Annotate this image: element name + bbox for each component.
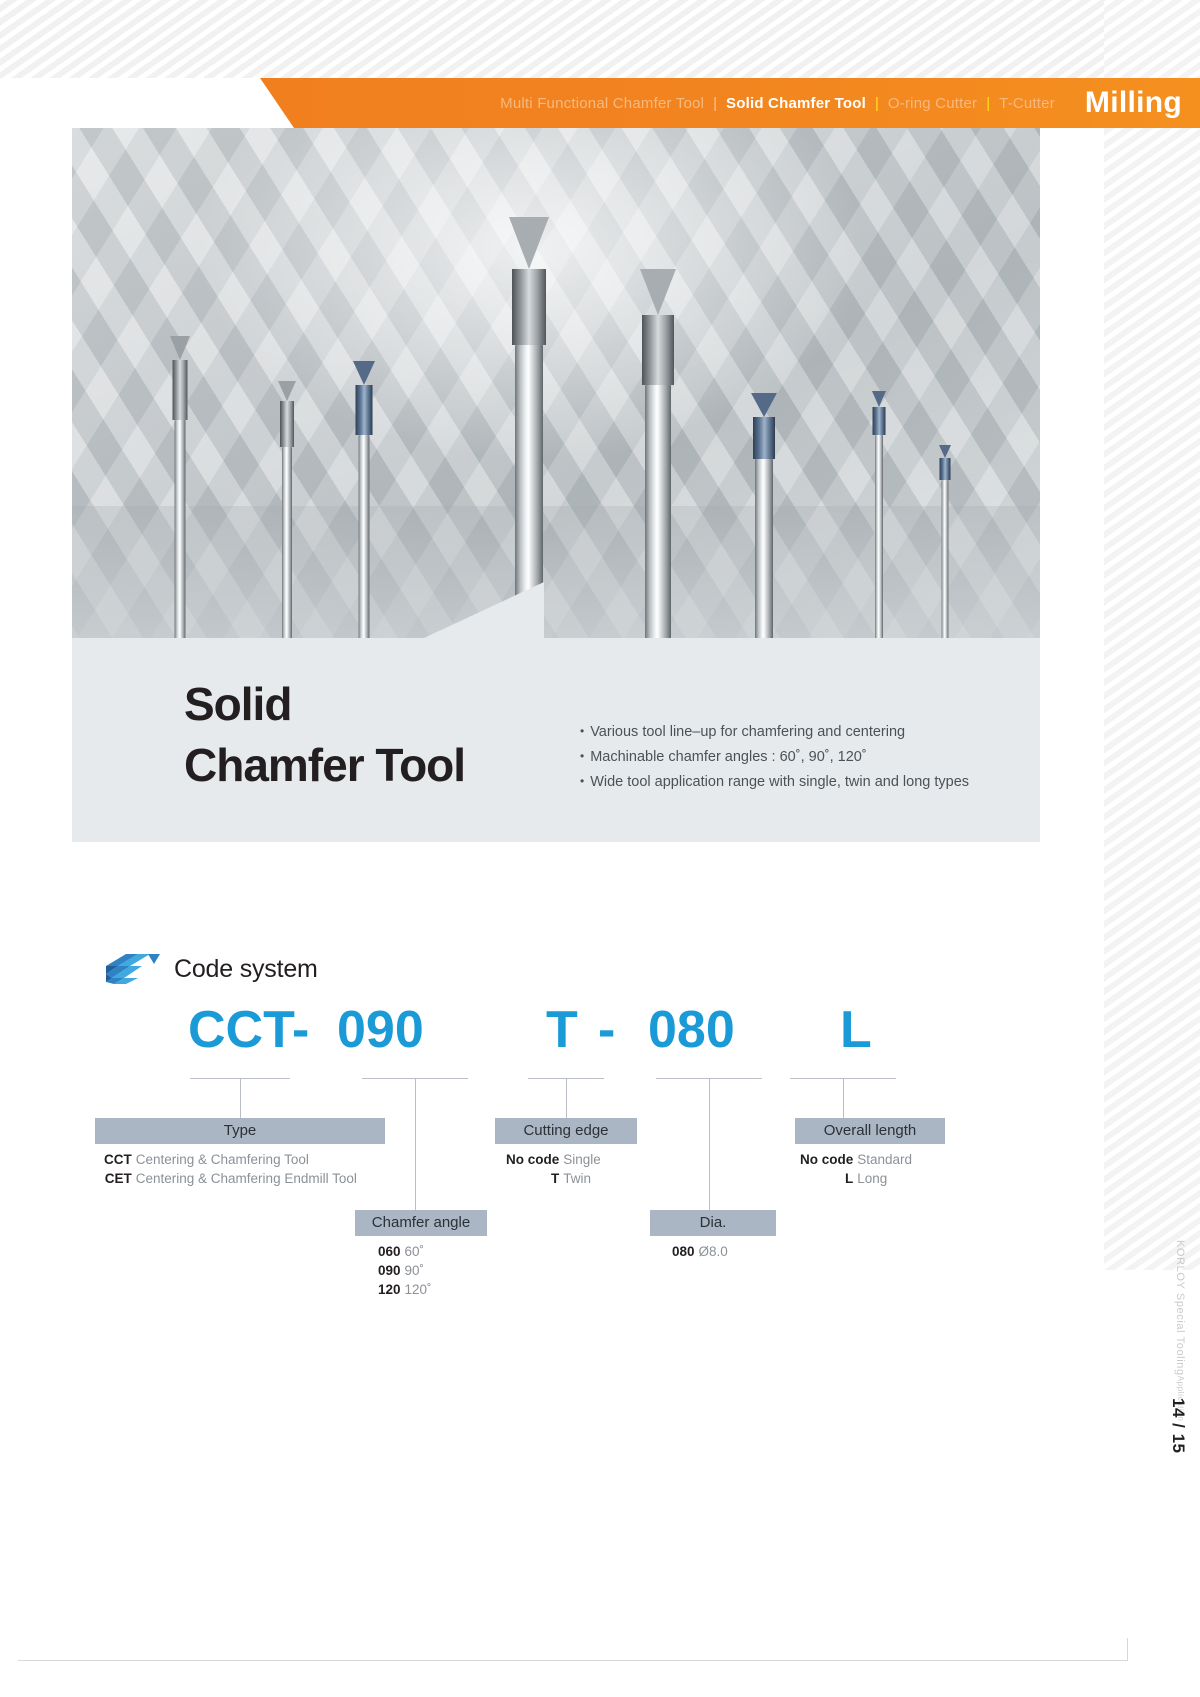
category-title-milling: Milling xyxy=(1085,86,1182,120)
option-row: CCT Centering & Chamfering Tool xyxy=(104,1150,361,1169)
footer-rule xyxy=(18,1660,1128,1661)
feature-item: Various tool line–up for chamfering and … xyxy=(580,720,969,745)
options-chamfer-angle: 060 60˚ 090 90˚ 120 120˚ xyxy=(378,1242,436,1299)
page-title: Solid Chamfer Tool xyxy=(184,674,465,796)
korloy-mark-icon xyxy=(104,952,160,986)
nav-separator: | xyxy=(875,95,879,112)
option-code: 120 xyxy=(378,1280,405,1299)
side-brand-label: KORLOY Special ToolingApplication xyxy=(1174,1240,1186,1421)
product-title-line-2: Chamfer Tool xyxy=(184,735,465,796)
caption-chamfer-angle: Chamfer angle xyxy=(355,1210,487,1236)
right-hatch-decoration xyxy=(1104,0,1200,1270)
tool-2 xyxy=(267,385,307,675)
options-cutting-edge: No code Single T Twin xyxy=(506,1150,605,1188)
hero-product-photo xyxy=(72,110,1040,675)
nav-separator: | xyxy=(713,95,717,112)
nav-separator: | xyxy=(986,95,990,112)
feature-bullet-list: Various tool line–up for chamfering and … xyxy=(580,720,969,795)
option-code: 080 xyxy=(672,1242,699,1261)
option-desc: 90˚ xyxy=(405,1261,436,1280)
feature-item: Wide tool application range with single,… xyxy=(580,770,969,795)
tool-5 xyxy=(624,270,692,675)
caption-type: Type xyxy=(95,1118,385,1144)
page-number: 14 / 15 xyxy=(1168,1398,1188,1454)
code-system-header: Code system xyxy=(104,952,318,986)
options-overall-length: No code Standard L Long xyxy=(800,1150,916,1188)
option-desc: Ø8.0 xyxy=(699,1242,732,1261)
nav-item-solid-chamfer-tool[interactable]: Solid Chamfer Tool xyxy=(726,95,866,112)
option-row: No code Standard xyxy=(800,1150,916,1169)
option-code: CCT xyxy=(104,1150,136,1169)
leader-line-cutting-edge-drop xyxy=(566,1078,567,1118)
option-row: 090 90˚ xyxy=(378,1261,436,1280)
code-token-dash-2: - xyxy=(598,1000,615,1060)
code-system-diagram: CCT - 090 T - 080 L Type CCT Centering &… xyxy=(0,1000,1060,1300)
option-row: T Twin xyxy=(506,1169,605,1188)
option-row: 060 60˚ xyxy=(378,1242,436,1261)
code-token-type: CCT xyxy=(188,1000,295,1060)
code-token-chamfer-angle: 090 xyxy=(337,1000,424,1060)
option-code: L xyxy=(800,1169,857,1188)
option-desc: Centering & Chamfering Endmill Tool xyxy=(136,1169,361,1188)
option-row: No code Single xyxy=(506,1150,605,1169)
tool-7 xyxy=(862,393,896,675)
leader-line-chamfer-angle-drop xyxy=(415,1078,416,1210)
option-row: CET Centering & Chamfering Endmill Tool xyxy=(104,1169,361,1188)
caption-overall-length: Overall length xyxy=(795,1118,945,1144)
feature-item: Machinable chamfer angles : 60˚, 90˚, 12… xyxy=(580,745,969,770)
option-desc: 120˚ xyxy=(405,1280,436,1299)
code-token-overall-length: L xyxy=(840,1000,872,1060)
product-title-line-1: Solid xyxy=(184,678,291,730)
nav-item-o-ring-cutter[interactable]: O-ring Cutter xyxy=(888,95,977,112)
leader-line-overall-length-drop xyxy=(843,1078,844,1118)
leader-line-type-drop xyxy=(240,1078,241,1118)
code-token-dia: 080 xyxy=(648,1000,735,1060)
code-system-title: Code system xyxy=(174,955,318,984)
code-token-dash-1: - xyxy=(292,1000,309,1060)
option-code: 090 xyxy=(378,1261,405,1280)
options-dia: 080 Ø8.0 xyxy=(672,1242,732,1261)
nav-item-multi-functional-chamfer-tool[interactable]: Multi Functional Chamfer Tool xyxy=(500,95,704,112)
option-code: No code xyxy=(800,1150,857,1169)
leader-line-dia-drop xyxy=(709,1078,710,1210)
option-desc: Single xyxy=(563,1150,605,1169)
option-desc: Standard xyxy=(857,1150,916,1169)
nav-item-t-cutter[interactable]: T-Cutter xyxy=(999,95,1055,112)
title-panel-diagonal-notch xyxy=(424,582,544,638)
tool-3 xyxy=(342,360,386,675)
caption-cutting-edge: Cutting edge xyxy=(495,1118,637,1144)
option-row: 080 Ø8.0 xyxy=(672,1242,732,1261)
option-desc: Long xyxy=(857,1169,916,1188)
option-row: 120 120˚ xyxy=(378,1280,436,1299)
code-token-cutting-edge: T xyxy=(546,1000,578,1060)
option-desc: Centering & Chamfering Tool xyxy=(136,1150,361,1169)
option-code: 060 xyxy=(378,1242,405,1261)
caption-dia: Dia. xyxy=(650,1210,776,1236)
tool-1 xyxy=(160,345,200,675)
option-code: T xyxy=(506,1169,563,1188)
option-desc: Twin xyxy=(563,1169,605,1188)
product-title-panel: Solid Chamfer Tool Various tool line–up … xyxy=(72,638,1040,842)
top-hatch-decoration xyxy=(0,0,1200,78)
side-brand-text: KORLOY Special Tooling xyxy=(1174,1240,1186,1376)
option-row: L Long xyxy=(800,1169,916,1188)
option-desc: 60˚ xyxy=(405,1242,436,1261)
tool-6 xyxy=(740,395,788,675)
option-code: CET xyxy=(104,1169,136,1188)
navbar-items: Multi Functional Chamfer Tool | Solid Ch… xyxy=(0,78,1200,128)
options-type: CCT Centering & Chamfering Tool CET Cent… xyxy=(104,1150,361,1188)
option-code: No code xyxy=(506,1150,563,1169)
